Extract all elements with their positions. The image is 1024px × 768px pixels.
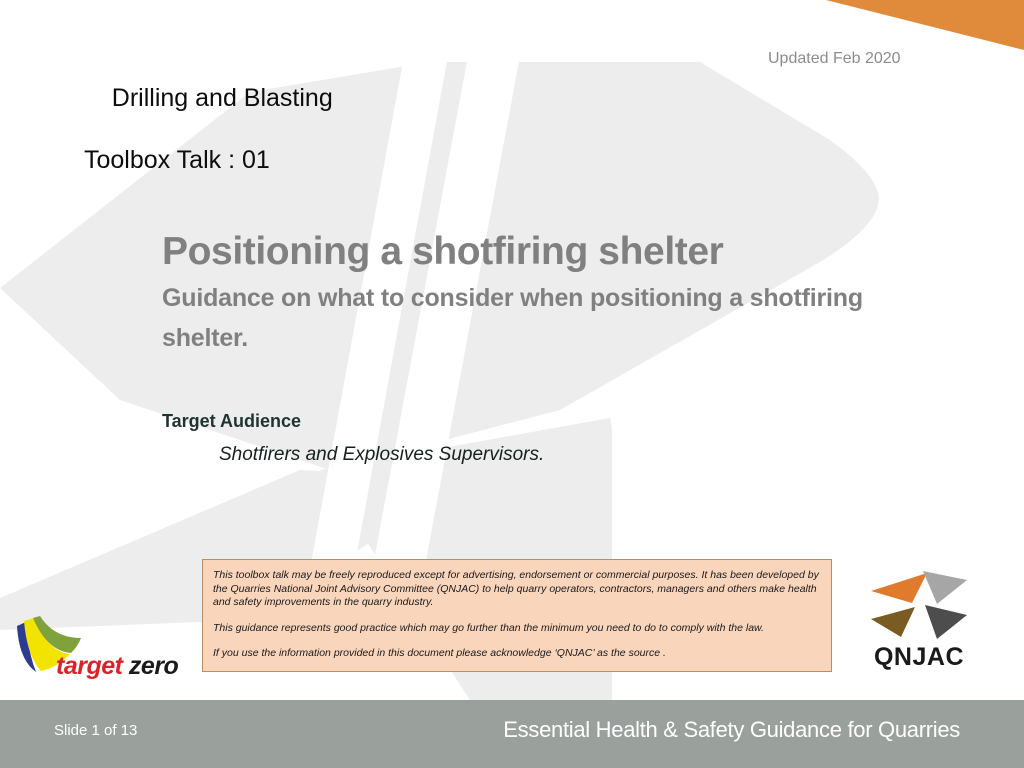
target-zero-logo: target zero [14,616,189,688]
target-audience-value: Shotfirers and Explosives Supervisors. [219,444,544,466]
target-zero-word-zero: zero [129,652,178,680]
title-block: Positioning a shotfiring shelter Guidanc… [162,228,902,358]
target-zero-word-target: target [56,652,122,680]
disclaimer-paragraph-1: This toolbox talk may be freely reproduc… [213,569,821,610]
target-audience-heading: Target Audience [162,411,301,432]
header-title-line2: Toolbox Talk : 01 [84,145,333,176]
qnjac-logo: QNJAC [859,563,979,675]
disclaimer-paragraph-2: This guidance represents good practice w… [213,622,821,636]
slide-counter: Slide 1 of 13 [54,722,137,739]
qnjac-wordmark: QNJAC [859,643,979,672]
slide-canvas: Drilling and Blasting Toolbox Talk : 01 … [0,0,1024,768]
target-zero-wordmark: target zero [56,652,178,681]
updated-date-label: Updated Feb 2020 [768,50,901,68]
header-title-line1: Drilling and Blasting [112,84,333,112]
page-title: Positioning a shotfiring shelter [162,228,902,276]
disclaimer-paragraph-3: If you use the information provided in t… [213,647,821,661]
disclaimer-box: This toolbox talk may be freely reproduc… [202,559,832,672]
qnjac-mark-icon [865,563,973,645]
orange-corner-triangle [826,0,1024,50]
header-title: Drilling and Blasting Toolbox Talk : 01 [84,52,333,238]
footer-tagline: Essential Health & Safety Guidance for Q… [503,717,960,743]
page-subtitle: Guidance on what to consider when positi… [162,278,902,358]
